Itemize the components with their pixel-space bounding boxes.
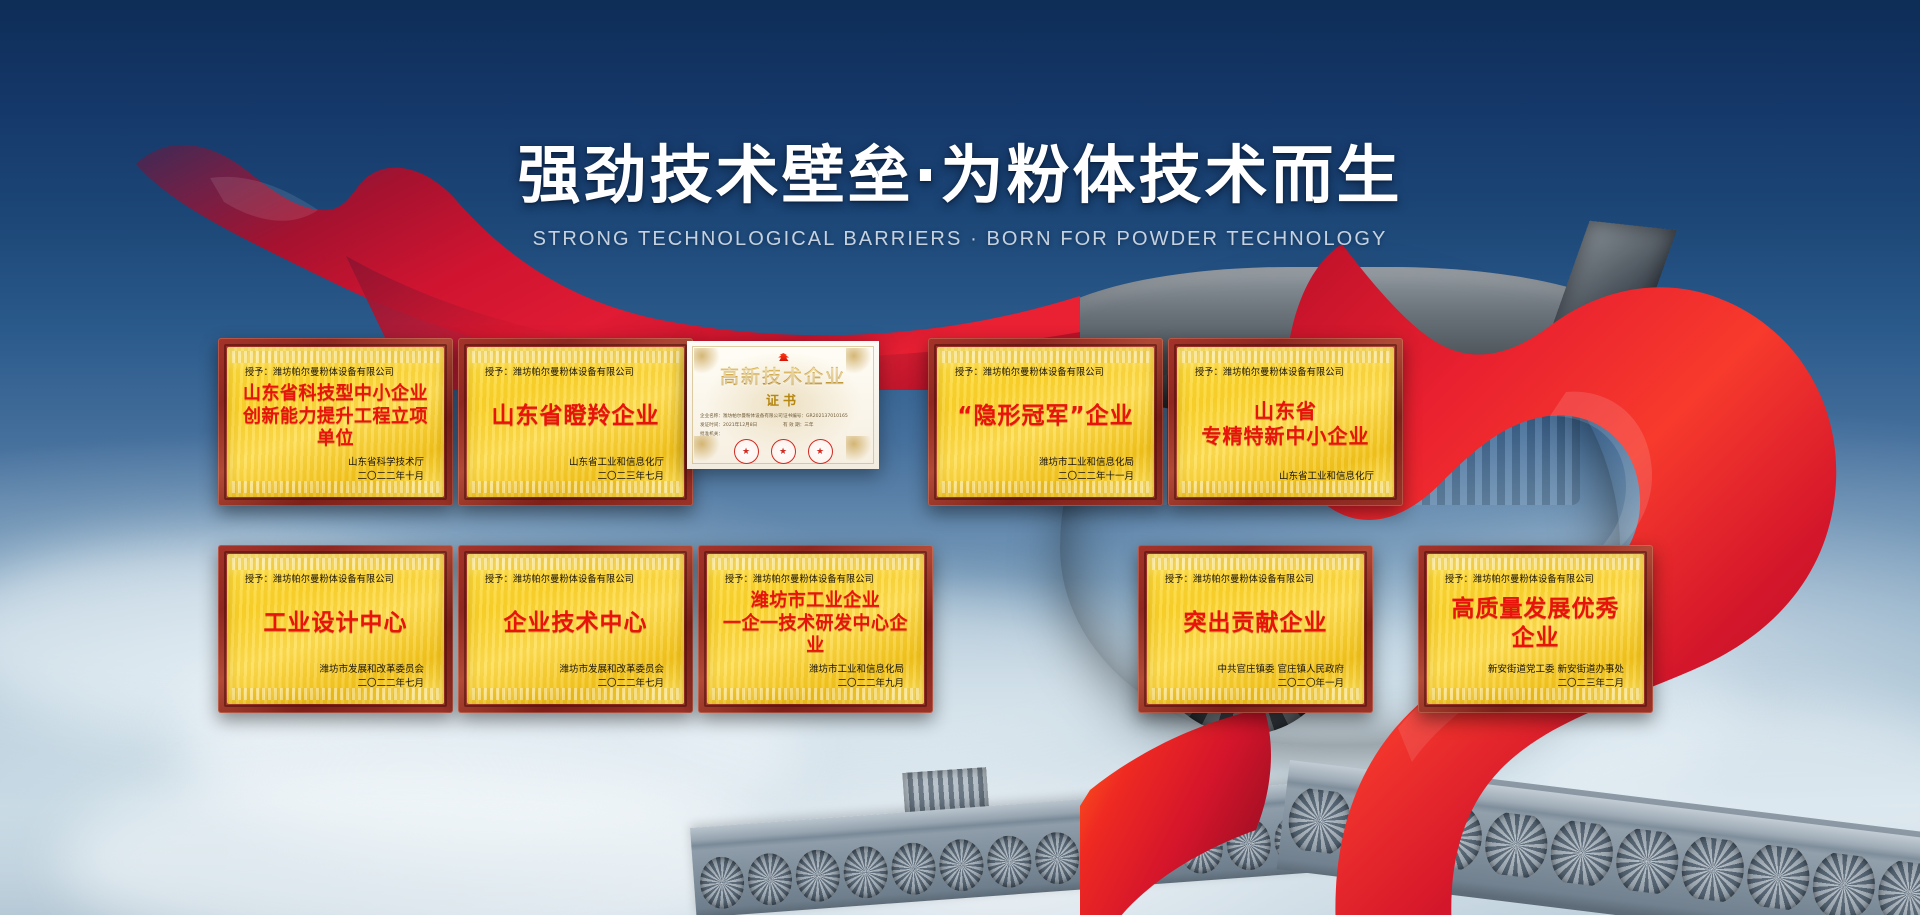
plaque-title: 山东省 专精特新中小企业 — [1191, 378, 1380, 470]
plaque-issuer-date: 二〇二二年七月 — [481, 677, 664, 692]
cert-field-list: 企业名称：潍坊帕尔曼粉体设备有限公司 证书编号：GR202137010165 发… — [692, 409, 874, 437]
cert-title: 高新技术企业 — [720, 362, 846, 389]
plaque-awardee: 授予：潍坊帕尔曼粉体设备有限公司 — [485, 571, 663, 585]
plaque-issuer-org: 潍坊市发展和改革委员会 — [241, 663, 424, 678]
cert-corner-ornament — [694, 348, 720, 374]
cert-issue-label: 发证时间： — [700, 423, 723, 428]
plaque-issuer: 潍坊市发展和改革委员会 二〇二二年七月 — [241, 663, 424, 692]
award-plaque[interactable]: 授予：潍坊帕尔曼粉体设备有限公司 高质量发展优秀企业 新安街道党工委 新安街道办… — [1418, 545, 1653, 713]
plaque-awardee: 授予：潍坊帕尔曼粉体设备有限公司 — [955, 364, 1133, 378]
cert-valid-value: 三年 — [804, 423, 813, 428]
plaque-title: 高质量发展优秀企业 — [1441, 585, 1630, 663]
plaque-issuer-org: 潍坊市工业和信息化局 — [721, 663, 904, 678]
cert-number-label: 证书编号： — [783, 414, 806, 419]
plaque-title: “隐形冠军”企业 — [951, 378, 1140, 456]
plaque-awardee: 授予：潍坊帕尔曼粉体设备有限公司 — [1165, 571, 1343, 585]
plaque-awardee: 授予：潍坊帕尔曼粉体设备有限公司 — [725, 571, 903, 585]
plaque-title-line1: 工业设计中心 — [241, 609, 430, 638]
plaque-title-line1: 山东省 — [1191, 399, 1380, 424]
award-plaque[interactable]: 授予：潍坊帕尔曼粉体设备有限公司 “隐形冠军”企业 潍坊市工业和信息化局 二〇二… — [928, 338, 1163, 506]
plaque-title: 突出贡献企业 — [1161, 585, 1350, 663]
official-seal-icon — [808, 439, 833, 464]
plaque-title: 潍坊市工业企业 一企一技术研发中心企业 — [721, 585, 910, 663]
plaque-issuer-date: 二〇二三年七月 — [481, 470, 664, 485]
plaque-title-line1: 山东省科技型中小企业 — [241, 383, 430, 406]
official-seal-icon — [734, 439, 759, 464]
promo-banner: 强劲技术壁垒·为粉体技术而生 STRONG TECHNOLOGICAL BARR… — [0, 0, 1920, 915]
plaque-issuer-org: 山东省科学技术厅 — [241, 456, 424, 471]
plaque-title-line1: 潍坊市工业企业 — [721, 590, 910, 613]
plaque-title: 山东省瞪羚企业 — [481, 378, 670, 456]
plaque-title: 山东省科技型中小企业 创新能力提升工程立项单位 — [241, 378, 430, 456]
plaque-issuer: 山东省科学技术厅 二〇二二年十月 — [241, 456, 424, 485]
plaque-title-line2: 专精特新中小企业 — [1191, 424, 1380, 449]
plaque-awardee: 授予：潍坊帕尔曼粉体设备有限公司 — [1195, 364, 1373, 378]
award-plaque[interactable]: 授予：潍坊帕尔曼粉体设备有限公司 潍坊市工业企业 一企一技术研发中心企业 潍坊市… — [698, 545, 933, 713]
award-plaque[interactable]: 授予：潍坊帕尔曼粉体设备有限公司 突出贡献企业 中共官庄镇委 官庄镇人民政府 二… — [1138, 545, 1373, 713]
plaque-title: 企业技术中心 — [481, 585, 670, 663]
award-plaque[interactable]: 授予：潍坊帕尔曼粉体设备有限公司 山东省瞪羚企业 山东省工业和信息化厅 二〇二三… — [458, 338, 693, 506]
cert-issue-value: 2021年12月8日 — [723, 423, 757, 428]
plaque-title-line2: 创新能力提升工程立项单位 — [241, 406, 430, 451]
cert-number-value: GR202137010165 — [806, 414, 848, 419]
award-plaque[interactable]: 授予：潍坊帕尔曼粉体设备有限公司 山东省 专精特新中小企业 山东省工业和信息化厅 — [1168, 338, 1403, 506]
plaque-title-line1: 高质量发展优秀企业 — [1441, 595, 1630, 653]
plaque-issuer-org: 中共官庄镇委 官庄镇人民政府 — [1161, 663, 1344, 678]
plaque-issuer: 中共官庄镇委 官庄镇人民政府 二〇二〇年一月 — [1161, 663, 1344, 692]
cert-corner-ornament — [846, 436, 872, 462]
cert-seal-row — [734, 439, 833, 464]
plaque-issuer: 潍坊市工业和信息化局 二〇二二年十一月 — [951, 456, 1134, 485]
plaque-issuer: 新安街道党工委 新安街道办事处 二〇二三年二月 — [1441, 663, 1624, 692]
cert-company-value: 潍坊帕尔曼粉体设备有限公司 — [723, 414, 783, 419]
plaque-title-line1: 山东省瞪羚企业 — [481, 402, 670, 431]
plaque-title: 工业设计中心 — [241, 585, 430, 663]
plaque-issuer: 山东省工业和信息化厅 — [1191, 470, 1374, 485]
plaque-issuer-date: 二〇二二年十一月 — [951, 470, 1134, 485]
plaque-awardee: 授予：潍坊帕尔曼粉体设备有限公司 — [245, 571, 423, 585]
high-tech-enterprise-certificate[interactable]: 高新技术企业 证书 企业名称：潍坊帕尔曼粉体设备有限公司 证书编号：GR2021… — [687, 341, 879, 469]
plaque-awardee: 授予：潍坊帕尔曼粉体设备有限公司 — [1445, 571, 1623, 585]
plaque-issuer-date: 二〇二二年九月 — [721, 677, 904, 692]
cert-corner-ornament — [694, 436, 720, 462]
plaque-awardee: 授予：潍坊帕尔曼粉体设备有限公司 — [245, 364, 423, 378]
plaque-issuer: 潍坊市发展和改革委员会 二〇二二年七月 — [481, 663, 664, 692]
official-seal-icon — [771, 439, 796, 464]
award-plaque[interactable]: 授予：潍坊帕尔曼粉体设备有限公司 企业技术中心 潍坊市发展和改革委员会 二〇二二… — [458, 545, 693, 713]
awards-grid: 授予：潍坊帕尔曼粉体设备有限公司 山东省科技型中小企业 创新能力提升工程立项单位… — [0, 0, 1920, 915]
award-plaque[interactable]: 授予：潍坊帕尔曼粉体设备有限公司 山东省科技型中小企业 创新能力提升工程立项单位… — [218, 338, 453, 506]
plaque-awardee: 授予：潍坊帕尔曼粉体设备有限公司 — [485, 364, 663, 378]
cert-company-label: 企业名称： — [700, 414, 723, 419]
plaque-title-line1: 企业技术中心 — [481, 609, 670, 638]
plaque-issuer-date: 二〇二〇年一月 — [1161, 677, 1344, 692]
plaque-issuer-date: 二〇二三年二月 — [1441, 677, 1624, 692]
plaque-issuer-org: 山东省工业和信息化厅 — [1191, 470, 1374, 485]
cert-valid-label: 有 效 期： — [783, 423, 804, 428]
cert-corner-ornament — [846, 348, 872, 374]
plaque-issuer-date: 二〇二二年十月 — [241, 470, 424, 485]
plaque-issuer: 潍坊市工业和信息化局 二〇二二年九月 — [721, 663, 904, 692]
cert-subtitle: 证书 — [766, 390, 800, 409]
plaque-title-line2: 一企一技术研发中心企业 — [721, 613, 910, 658]
flame-icon — [775, 353, 791, 361]
plaque-title-line1: “隐形冠军”企业 — [951, 402, 1140, 431]
plaque-issuer-org: 山东省工业和信息化厅 — [481, 456, 664, 471]
plaque-issuer-date: 二〇二二年七月 — [241, 677, 424, 692]
plaque-issuer-org: 新安街道党工委 新安街道办事处 — [1441, 663, 1624, 678]
plaque-issuer: 山东省工业和信息化厅 二〇二三年七月 — [481, 456, 664, 485]
plaque-issuer-org: 潍坊市工业和信息化局 — [951, 456, 1134, 471]
plaque-issuer-org: 潍坊市发展和改革委员会 — [481, 663, 664, 678]
plaque-title-line1: 突出贡献企业 — [1161, 609, 1350, 638]
award-plaque[interactable]: 授予：潍坊帕尔曼粉体设备有限公司 工业设计中心 潍坊市发展和改革委员会 二〇二二… — [218, 545, 453, 713]
